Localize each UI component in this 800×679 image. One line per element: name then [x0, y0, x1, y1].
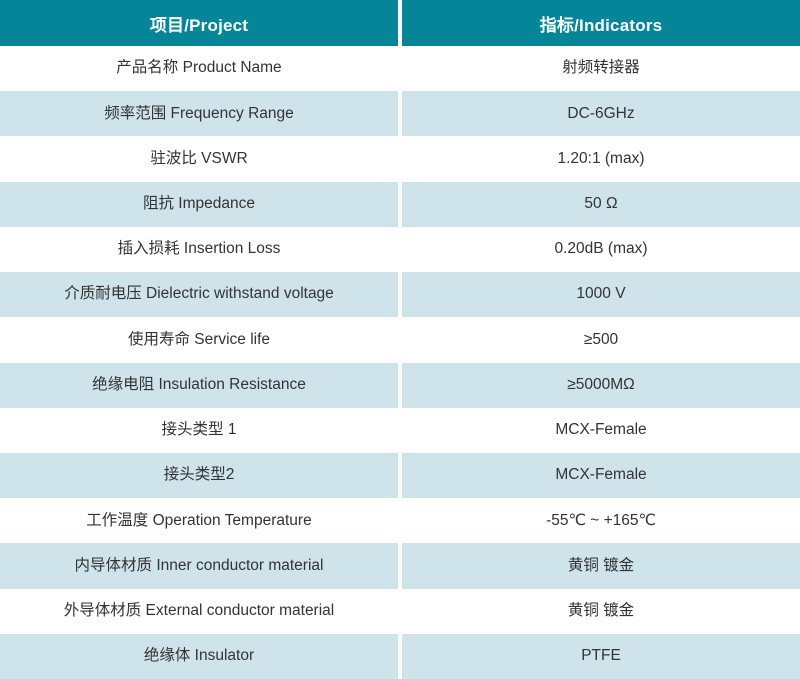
cell-project: 介质耐电压 Dielectric withstand voltage [0, 272, 398, 317]
cell-project: 内导体材质 Inner conductor material [0, 543, 398, 588]
column-header-project: 项目/Project [0, 0, 398, 46]
column-header-indicators: 指标/Indicators [402, 0, 800, 46]
table-row: 绝缘体 InsulatorPTFE [0, 634, 800, 679]
cell-indicator: 50 Ω [402, 182, 800, 227]
table-row: 插入损耗 Insertion Loss0.20dB (max) [0, 227, 800, 272]
table-row: 外导体材质 External conductor material黄铜 镀金 [0, 589, 800, 634]
cell-indicator: 黄铜 镀金 [402, 589, 800, 634]
cell-project: 接头类型2 [0, 453, 398, 498]
table-row: 阻抗 Impedance50 Ω [0, 182, 800, 227]
table-row: 绝缘电阻 Insulation Resistance≥5000MΩ [0, 363, 800, 408]
table-body: 产品名称 Product Name射频转接器频率范围 Frequency Ran… [0, 46, 800, 679]
cell-indicator: 黄铜 镀金 [402, 543, 800, 588]
cell-project: 接头类型 1 [0, 408, 398, 453]
cell-project: 外导体材质 External conductor material [0, 589, 398, 634]
cell-project: 使用寿命 Service life [0, 317, 398, 362]
table-row: 使用寿命 Service life≥500 [0, 317, 800, 362]
cell-indicator: DC-6GHz [402, 91, 800, 136]
cell-indicator: ≥5000MΩ [402, 363, 800, 408]
cell-project: 插入损耗 Insertion Loss [0, 227, 398, 272]
table-row: 接头类型 1MCX-Female [0, 408, 800, 453]
cell-indicator: PTFE [402, 634, 800, 679]
cell-project: 工作温度 Operation Temperature [0, 498, 398, 543]
cell-project: 频率范围 Frequency Range [0, 91, 398, 136]
table-row: 内导体材质 Inner conductor material黄铜 镀金 [0, 543, 800, 588]
cell-indicator: 1000 V [402, 272, 800, 317]
cell-project: 阻抗 Impedance [0, 182, 398, 227]
table-row: 接头类型2MCX-Female [0, 453, 800, 498]
table-row: 介质耐电压 Dielectric withstand voltage1000 V [0, 272, 800, 317]
table-row: 频率范围 Frequency RangeDC-6GHz [0, 91, 800, 136]
cell-project: 产品名称 Product Name [0, 46, 398, 91]
cell-indicator: 0.20dB (max) [402, 227, 800, 272]
cell-project: 绝缘电阻 Insulation Resistance [0, 363, 398, 408]
cell-indicator: 1.20:1 (max) [402, 136, 800, 181]
cell-indicator: MCX-Female [402, 453, 800, 498]
table-row: 产品名称 Product Name射频转接器 [0, 46, 800, 91]
cell-project: 绝缘体 Insulator [0, 634, 398, 679]
specification-table: 项目/Project 指标/Indicators 产品名称 Product Na… [0, 0, 800, 679]
cell-indicator: 射频转接器 [402, 46, 800, 91]
cell-project: 驻波比 VSWR [0, 136, 398, 181]
table-header-row: 项目/Project 指标/Indicators [0, 0, 800, 46]
cell-indicator: MCX-Female [402, 408, 800, 453]
table-row: 工作温度 Operation Temperature-55℃ ~ +165℃ [0, 498, 800, 543]
cell-indicator: -55℃ ~ +165℃ [402, 498, 800, 543]
table-row: 驻波比 VSWR1.20:1 (max) [0, 136, 800, 181]
cell-indicator: ≥500 [402, 317, 800, 362]
